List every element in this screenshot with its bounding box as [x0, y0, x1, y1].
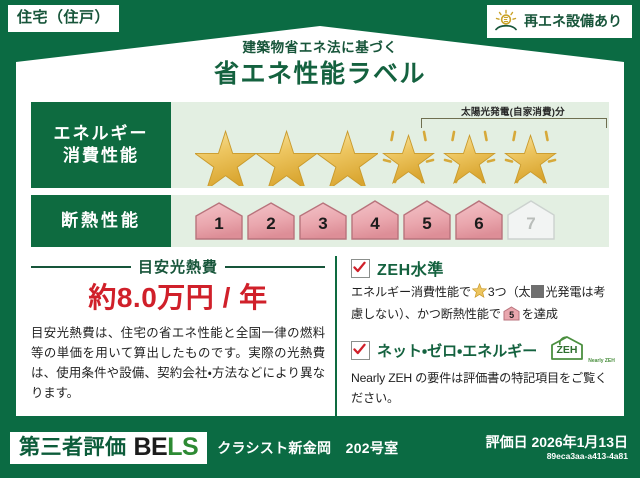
bels-logo-part2: LS [167, 433, 198, 461]
insulation-level-number: 3 [297, 215, 349, 232]
lower-section: 目安光熱費 約8.0万円 / 年 目安光熱費は、住宅の省エネ性能と全国一律の燃料… [31, 256, 609, 416]
renewable-badge-label: 再エネ設備あり [524, 14, 622, 29]
zeh-note-part4: を達成 [522, 307, 558, 321]
evaluation-meta: 評価日 2026年1月13日 89eca3aa-a413-4a81 [486, 434, 628, 461]
sun-icon [493, 9, 519, 33]
redacted-box [531, 285, 544, 298]
utility-cost-heading-text: 目安光熱費 [138, 256, 218, 277]
housing-type-tag: 住宅（住戸） [8, 5, 119, 32]
rule-right [225, 266, 325, 268]
insulation-level-number: 2 [245, 215, 297, 232]
energy-label-line1: エネルギー [54, 123, 149, 145]
insulation-level-number: 4 [349, 215, 401, 232]
insulation-label-text: 断熱性能 [61, 210, 141, 232]
star-icon [195, 120, 256, 186]
insulation-performance-label: 断熱性能 [31, 195, 171, 247]
insulation-performance-row: 断熱性能 1 [31, 195, 609, 247]
insulation-level-number: 5 [401, 215, 453, 232]
house-icon-inline: 5 [503, 306, 520, 328]
energy-performance-label: エネルギー 消費性能 [31, 102, 171, 188]
renewable-equipment-badge: 再エネ設備あり [487, 5, 632, 38]
zeh-logo: ZEH Nearly ZEH [548, 335, 615, 366]
solar-portion-caption: 太陽光発電(自家消費)分 [423, 104, 603, 118]
bels-logo: BELS [134, 435, 199, 460]
insulation-performance-body: 1 2 3 [171, 195, 609, 247]
insulation-level-number: 6 [453, 215, 505, 232]
svg-text:5: 5 [509, 310, 514, 320]
star-icon-solar [439, 120, 500, 186]
property-name: クラシスト新金岡 202号室 [217, 438, 398, 458]
star-icon-solar [378, 120, 439, 186]
net-zero-heading: ネット・ゼロ・エネルギー ZEH Nearly ZEH [351, 335, 615, 366]
check-icon [351, 259, 370, 278]
zeh-standard-heading: ZEH水準 [351, 256, 615, 280]
insulation-level-number: 7 [505, 215, 557, 232]
label-heading: 建築物省エネ法に基づく 省エネ性能ラベル [0, 40, 640, 90]
utility-cost-value: 約8.0万円 / 年 [31, 279, 325, 317]
energy-performance-body: 太陽光発電(自家消費)分 [171, 102, 609, 188]
house-icon-empty: 7 [505, 199, 557, 243]
star-icon-inline [472, 283, 487, 305]
house-icon: 6 [453, 199, 505, 243]
label-footer: 第三者評価 BELS クラシスト新金岡 202号室 評価日 2026年1月13日… [0, 418, 640, 478]
bels-logo-part1: BE [134, 433, 168, 461]
net-zero-note: Nearly ZEH の要件は評価書の特記項目をご覧ください。 [351, 369, 615, 408]
rule-left [31, 266, 131, 268]
utility-cost-note: 目安光熱費は、住宅の省エネ性能と全国一律の燃料等の単価を用いて算出したものです。… [31, 323, 325, 403]
evaluation-date: 評価日 2026年1月13日 [486, 434, 628, 450]
energy-performance-label: 住宅（住戸） 再エネ設備あり 建築物省エネ法に基づく 省エネ性能ラベル [0, 0, 640, 478]
page-title: 省エネ性能ラベル [0, 59, 640, 90]
star-rating: 太陽光発電(自家消費)分 [177, 102, 603, 188]
house-icon: 2 [245, 199, 297, 243]
zeh-note-part1: エネルギー消費性能で [351, 285, 471, 299]
svg-text:ZEH: ZEH [557, 344, 578, 356]
zeh-standard-note: エネルギー消費性能で3つ（太光発電は考慮しない）、かつ断熱性能で5を達成 [351, 283, 615, 327]
zeh-note-part2: 3つ（太 [488, 285, 531, 299]
star-icon [317, 120, 378, 186]
house-icon: 5 [401, 199, 453, 243]
utility-cost-heading: 目安光熱費 [31, 256, 325, 277]
zeh-house-icon: ZEH [548, 335, 586, 366]
house-icon: 3 [297, 199, 349, 243]
star-icon-solar [500, 120, 561, 186]
zeh-logo-sub: Nearly ZEH [588, 359, 615, 366]
zeh-column: ZEH水準 エネルギー消費性能で3つ（太光発電は考慮しない）、かつ断熱性能で5を… [337, 256, 615, 416]
utility-cost-column: 目安光熱費 約8.0万円 / 年 目安光熱費は、住宅の省エネ性能と全国一律の燃料… [31, 256, 337, 416]
house-icon: 4 [349, 199, 401, 243]
net-zero-title: ネット・ゼロ・エネルギー [377, 340, 537, 361]
label-subtitle: 建築物省エネ法に基づく [0, 40, 640, 56]
insulation-level-strip: 1 2 3 [177, 199, 603, 243]
energy-label-line2: 消費性能 [63, 145, 139, 167]
zeh-standard-title: ZEH水準 [377, 256, 444, 280]
third-party-label: 第三者評価 [19, 436, 127, 459]
check-icon [351, 341, 370, 360]
star-strip [177, 120, 603, 186]
insulation-level-number: 1 [193, 215, 245, 232]
energy-performance-row: エネルギー 消費性能 太陽光発電(自家消費)分 [31, 102, 609, 188]
housing-type-label: 住宅（住戸） [17, 9, 110, 26]
evaluation-uid: 89eca3aa-a413-4a81 [486, 451, 628, 461]
bels-badge: 第三者評価 BELS [10, 432, 207, 464]
house-icon: 1 [193, 199, 245, 243]
star-icon [256, 120, 317, 186]
label-content-panel: エネルギー 消費性能 太陽光発電(自家消費)分 [31, 102, 609, 416]
